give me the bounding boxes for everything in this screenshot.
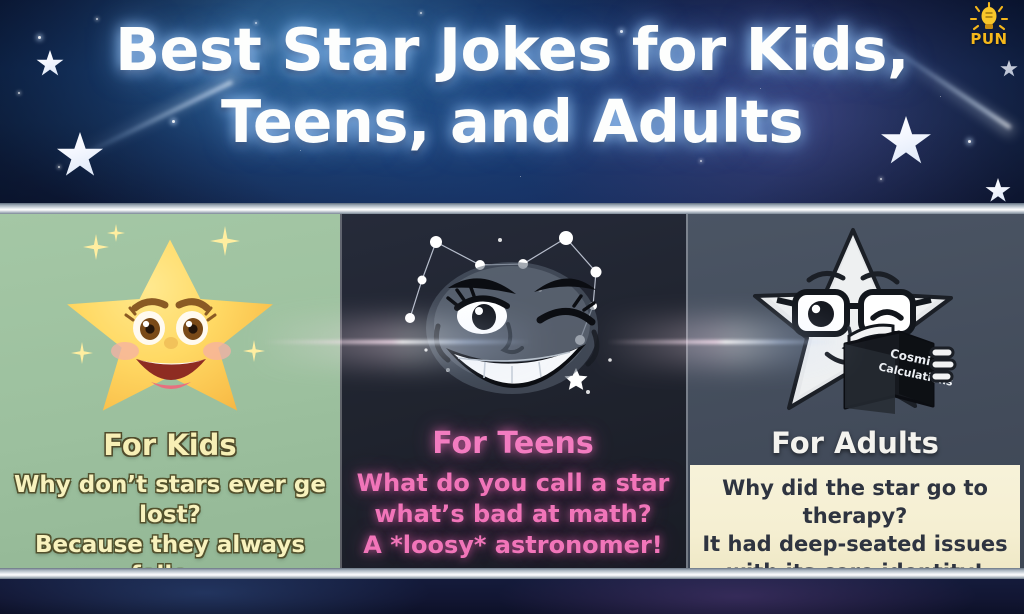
- lens-flare: [262, 340, 532, 344]
- decorative-star-icon: [985, 178, 1011, 204]
- joke-text-teens: What do you call a star what’s bad at ma…: [340, 468, 686, 561]
- joke-line: What do you call a star: [340, 468, 686, 499]
- footer-space: [0, 579, 1024, 614]
- joke-line: Why did the star go to therapy?: [686, 474, 1024, 530]
- background-star-dot: [880, 178, 882, 180]
- brand-name: PUN: [966, 32, 1012, 47]
- page-title: Best Star Jokes for Kids, Teens, and Adu…: [0, 14, 1024, 158]
- smiling-yellow-star-icon: [65, 230, 275, 420]
- panel-label-teens: For Teens: [340, 426, 686, 461]
- adults-artwork: Cosmic Calculations: [686, 212, 1024, 424]
- panel-for-adults[interactable]: Cosmic Calculations For Adults: [686, 212, 1024, 570]
- joke-line: A *loosy* astronomer!: [340, 530, 686, 561]
- panel-for-kids[interactable]: For Kids Why don’t stars ever ge lost? B…: [0, 212, 340, 570]
- background-star-dot: [520, 176, 521, 177]
- joke-text-kids: Why don’t stars ever ge lost? Because th…: [0, 470, 340, 570]
- bottom-divider: [0, 568, 1024, 579]
- joke-text-adults: Why did the star go to therapy? It had d…: [686, 474, 1024, 570]
- lightbulb-icon: [966, 2, 1012, 32]
- star-face: [65, 236, 275, 416]
- top-divider: [0, 203, 1024, 214]
- kids-artwork: [0, 212, 340, 424]
- joke-line: what’s bad at math?: [340, 499, 686, 530]
- panel-label-adults: For Adults: [686, 426, 1024, 460]
- infographic-canvas: Best Star Jokes for Kids, Teens, and Adu…: [0, 0, 1024, 614]
- panel-for-teens[interactable]: For Teens What do you call a star what’s…: [340, 212, 686, 570]
- joke-line: Why don’t stars ever ge lost?: [0, 470, 340, 530]
- background-star-dot: [700, 160, 702, 162]
- joke-line: Because they always follow: [0, 530, 340, 570]
- joke-line: It had deep-seated issues: [686, 530, 1024, 558]
- panel-label-kids: For Kids: [0, 428, 340, 462]
- title-line-1: Best Star Jokes for Kids,: [0, 14, 1024, 86]
- title-line-2: Teens, and Adults: [0, 86, 1024, 158]
- lens-flare: [606, 340, 836, 344]
- teens-artwork: [340, 212, 686, 424]
- brand-logo[interactable]: PUN: [966, 2, 1012, 54]
- panel-row: For Kids Why don’t stars ever ge lost? B…: [0, 212, 1024, 570]
- hero-banner: Best Star Jokes for Kids, Teens, and Adu…: [0, 0, 1024, 205]
